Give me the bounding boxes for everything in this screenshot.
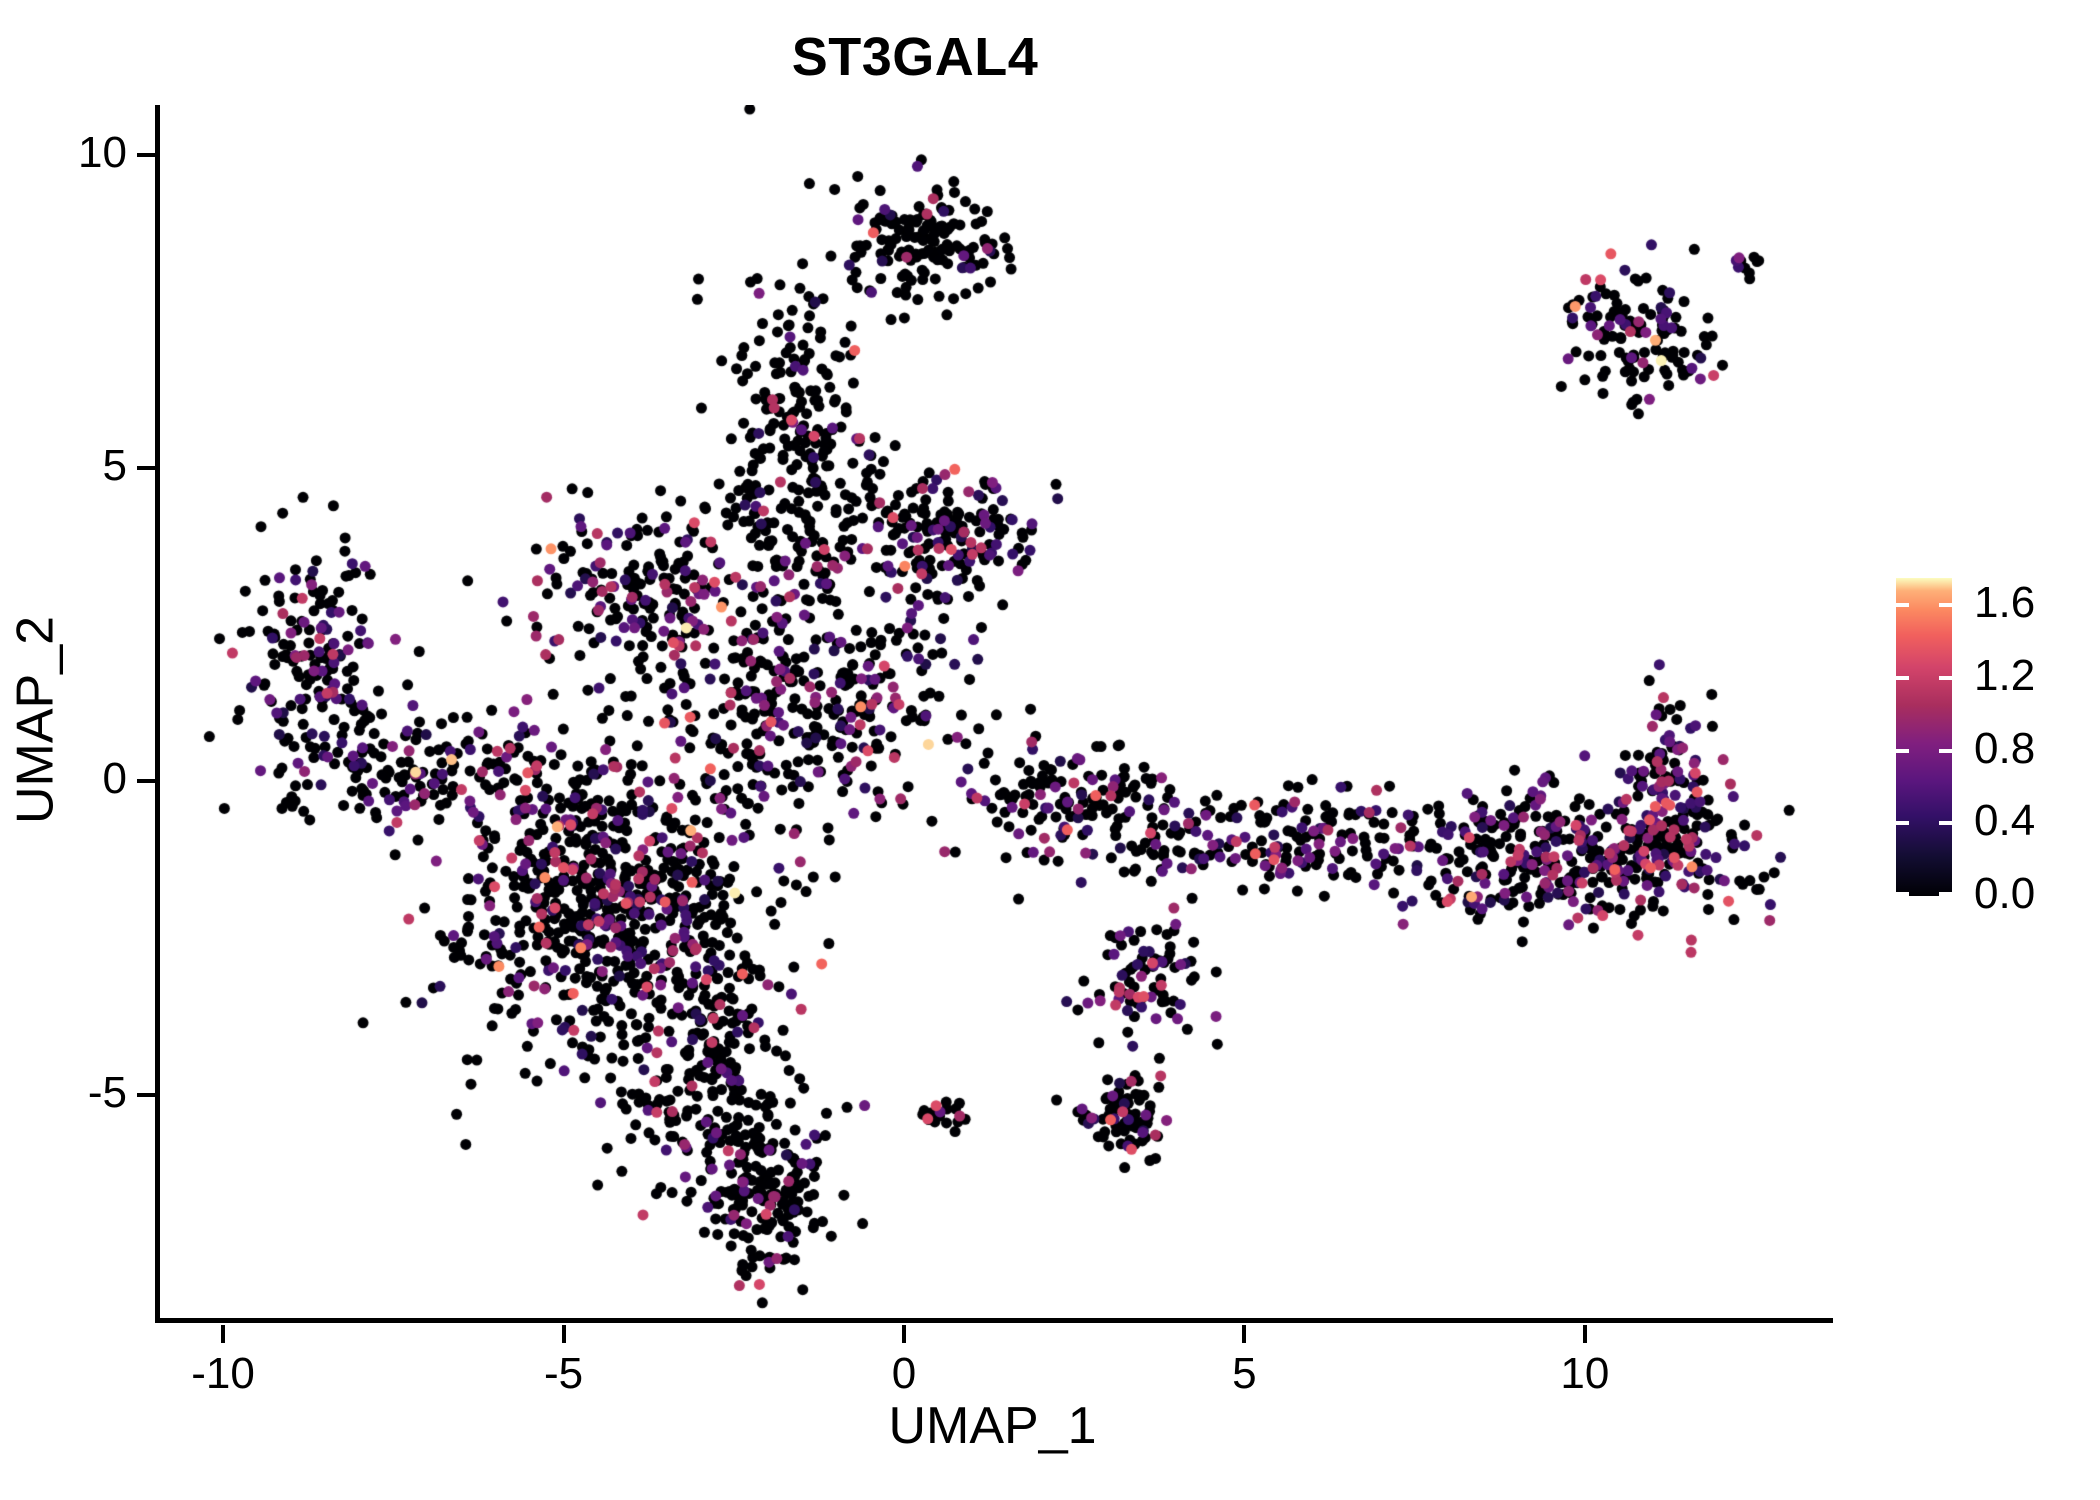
colorbar-tick-mark <box>1939 676 1952 680</box>
colorbar-tick-label: 0.0 <box>1974 872 2035 916</box>
x-tick-mark <box>562 1325 566 1343</box>
colorbar-tick-label: 1.2 <box>1974 654 2035 698</box>
x-axis-line <box>155 1318 1833 1323</box>
x-tick-label: -5 <box>484 1352 644 1396</box>
colorbar-tick-label: 0.4 <box>1974 799 2035 843</box>
x-tick-label: 0 <box>824 1352 984 1396</box>
colorbar-tick-mark <box>1939 821 1952 825</box>
colorbar-tick-mark <box>1896 821 1909 825</box>
chart-root: ST3GAL4 -50510 -10-50510 UMAP_1 UMAP_2 0… <box>0 0 2100 1500</box>
x-axis-title: UMAP_1 <box>155 1396 1830 1456</box>
y-tick-mark <box>137 779 155 783</box>
x-tick-mark <box>221 1325 225 1343</box>
colorbar-tick-mark <box>1939 603 1952 607</box>
x-tick-mark <box>902 1325 906 1343</box>
colorbar-tick-mark <box>1939 892 1952 896</box>
x-tick-mark <box>1583 1325 1587 1343</box>
y-tick-mark <box>137 466 155 470</box>
page-title: ST3GAL4 <box>0 26 1830 88</box>
x-tick-label: -10 <box>143 1352 303 1396</box>
y-tick-mark <box>137 153 155 157</box>
x-tick-label: 10 <box>1505 1352 1665 1396</box>
colorbar-tick-mark <box>1896 749 1909 753</box>
colorbar-tick-mark <box>1896 676 1909 680</box>
colorbar-tick-mark <box>1939 749 1952 753</box>
colorbar-tick-mark <box>1896 892 1909 896</box>
scatter-plot-canvas <box>155 105 1830 1320</box>
x-tick-mark <box>1242 1325 1246 1343</box>
colorbar-gradient <box>1896 578 1952 896</box>
colorbar-legend: 0.00.40.81.21.6 <box>1896 578 2086 898</box>
plot-panel <box>155 105 1830 1320</box>
y-axis-line <box>155 105 160 1323</box>
y-axis-title: UMAP_2 <box>6 113 66 1328</box>
y-tick-mark <box>137 1093 155 1097</box>
colorbar-tick-label: 1.6 <box>1974 581 2035 625</box>
colorbar-tick-label: 0.8 <box>1974 727 2035 771</box>
colorbar-tick-mark <box>1896 603 1909 607</box>
x-tick-label: 5 <box>1164 1352 1324 1396</box>
